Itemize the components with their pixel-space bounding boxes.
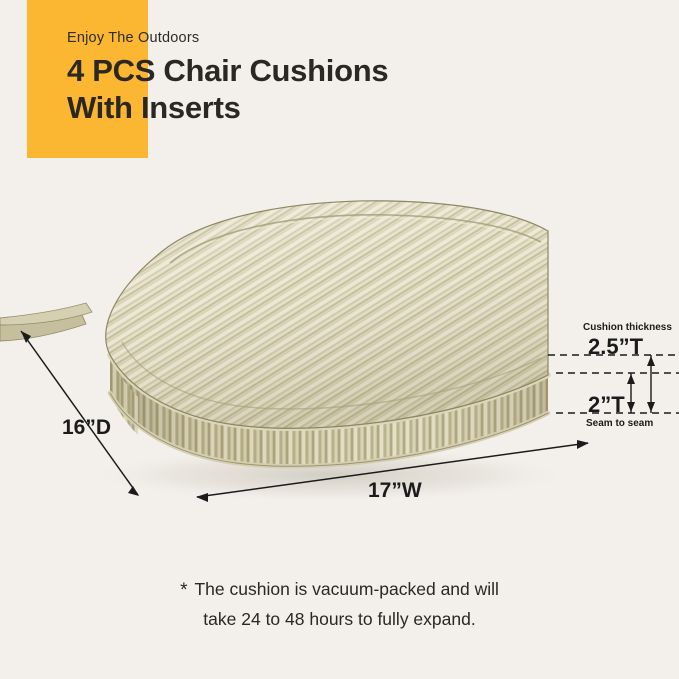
product-infographic: Enjoy The Outdoors 4 PCS Chair Cushions … (0, 0, 679, 679)
footnote-line-1: The cushion is vacuum-packed and will (194, 579, 498, 599)
header-text-group: Enjoy The Outdoors 4 PCS Chair Cushions … (67, 28, 627, 126)
depth-label: 16”D (62, 416, 111, 440)
product-illustration (0, 175, 679, 535)
width-label: 17”W (368, 479, 422, 503)
footnote: *The cushion is vacuum-packed and will t… (0, 575, 679, 634)
eyebrow-text: Enjoy The Outdoors (67, 28, 627, 48)
cushion-thickness-caption: Cushion thickness (583, 322, 672, 333)
seam-to-seam-caption: Seam to seam (586, 418, 653, 429)
headline-line-2: With Inserts (67, 89, 627, 126)
total-thickness-label: 2.5”T (588, 334, 643, 360)
seam-thickness-label: 2”T (588, 392, 625, 418)
footnote-marker: * (180, 580, 194, 601)
headline-line-1: 4 PCS Chair Cushions (67, 52, 627, 89)
cushion-top-surface (106, 201, 548, 428)
width-arrowhead-end (577, 440, 589, 449)
tie-straps (0, 303, 92, 341)
footnote-line-2: take 24 to 48 hours to fully expand. (0, 605, 679, 634)
